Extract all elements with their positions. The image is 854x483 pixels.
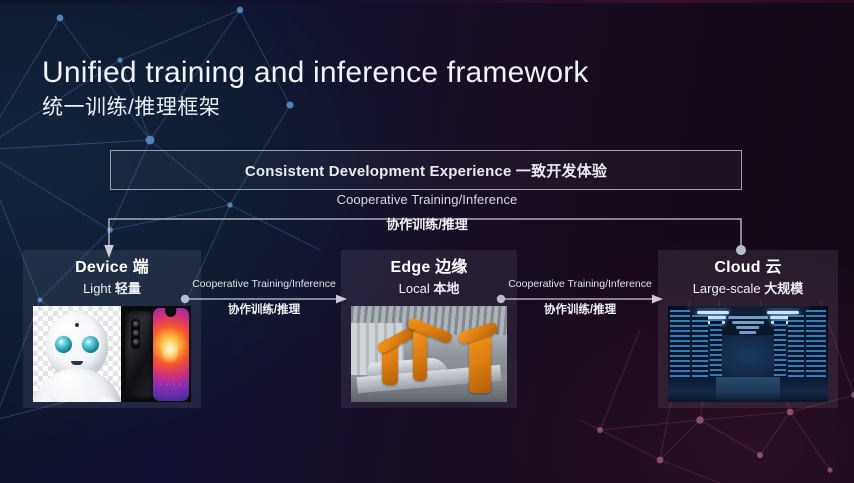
consistent-experience-banner: Consistent Development Experience 一致开发体验 xyxy=(110,150,742,190)
connector-device-to-edge-label-cn: 协作训练/推理 xyxy=(179,303,349,318)
connector-device-to-edge: Cooperative Training/Inference 协作训练/推理 xyxy=(179,278,349,324)
cooperative-bracket-arrow xyxy=(95,186,775,260)
card-cloud-title: Cloud 云 xyxy=(658,258,838,278)
page-title-cn: 统一训练/推理框架 xyxy=(42,95,589,121)
card-edge-subtitle-cn: 本地 xyxy=(433,281,459,296)
card-cloud-subtitle-cn: 大规模 xyxy=(764,281,803,296)
card-device-title: Device 端 xyxy=(23,258,201,278)
factory-robots-icon xyxy=(351,306,507,402)
card-cloud-heading: Cloud 云 Large-scale 大规模 xyxy=(658,258,838,297)
top-accent-bar xyxy=(0,0,854,3)
card-cloud-image xyxy=(668,306,828,402)
banner-label: Consistent Development Experience 一致开发体验 xyxy=(245,160,607,181)
card-cloud[interactable]: Cloud 云 Large-scale 大规模 xyxy=(658,250,838,408)
connector-edge-to-cloud: Cooperative Training/Inference 协作训练/推理 xyxy=(495,278,665,324)
card-cloud-subtitle-en: Large-scale xyxy=(693,281,761,296)
card-edge[interactable]: Edge 边缘 Local 本地 xyxy=(341,250,517,408)
card-device-subtitle-cn: 轻量 xyxy=(115,281,141,296)
card-edge-subtitle-en: Local xyxy=(399,281,430,296)
card-device[interactable]: Device 端 Light 轻量 xyxy=(23,250,201,408)
connector-edge-to-cloud-label-cn: 协作训练/推理 xyxy=(495,303,665,318)
data-center-icon xyxy=(668,306,828,402)
card-edge-image xyxy=(351,306,507,402)
card-edge-subtitle: Local 本地 xyxy=(341,280,517,297)
connector-device-to-edge-label-en: Cooperative Training/Inference xyxy=(179,278,349,291)
connector-edge-to-cloud-label-en: Cooperative Training/Inference xyxy=(495,278,665,291)
card-device-subtitle: Light 轻量 xyxy=(23,280,201,297)
page-title-en: Unified training and inference framework xyxy=(42,56,589,90)
card-device-subtitle-en: Light xyxy=(83,281,111,296)
card-device-image: · · · · xyxy=(33,306,191,402)
card-device-heading: Device 端 Light 轻量 xyxy=(23,258,201,297)
card-cloud-subtitle: Large-scale 大规模 xyxy=(658,280,838,297)
card-edge-title: Edge 边缘 xyxy=(341,258,517,278)
page-title: Unified training and inference framework… xyxy=(42,56,589,121)
humanoid-robot-icon xyxy=(33,306,121,402)
card-edge-heading: Edge 边缘 Local 本地 xyxy=(341,258,517,297)
slide-canvas: Unified training and inference framework… xyxy=(0,0,854,483)
